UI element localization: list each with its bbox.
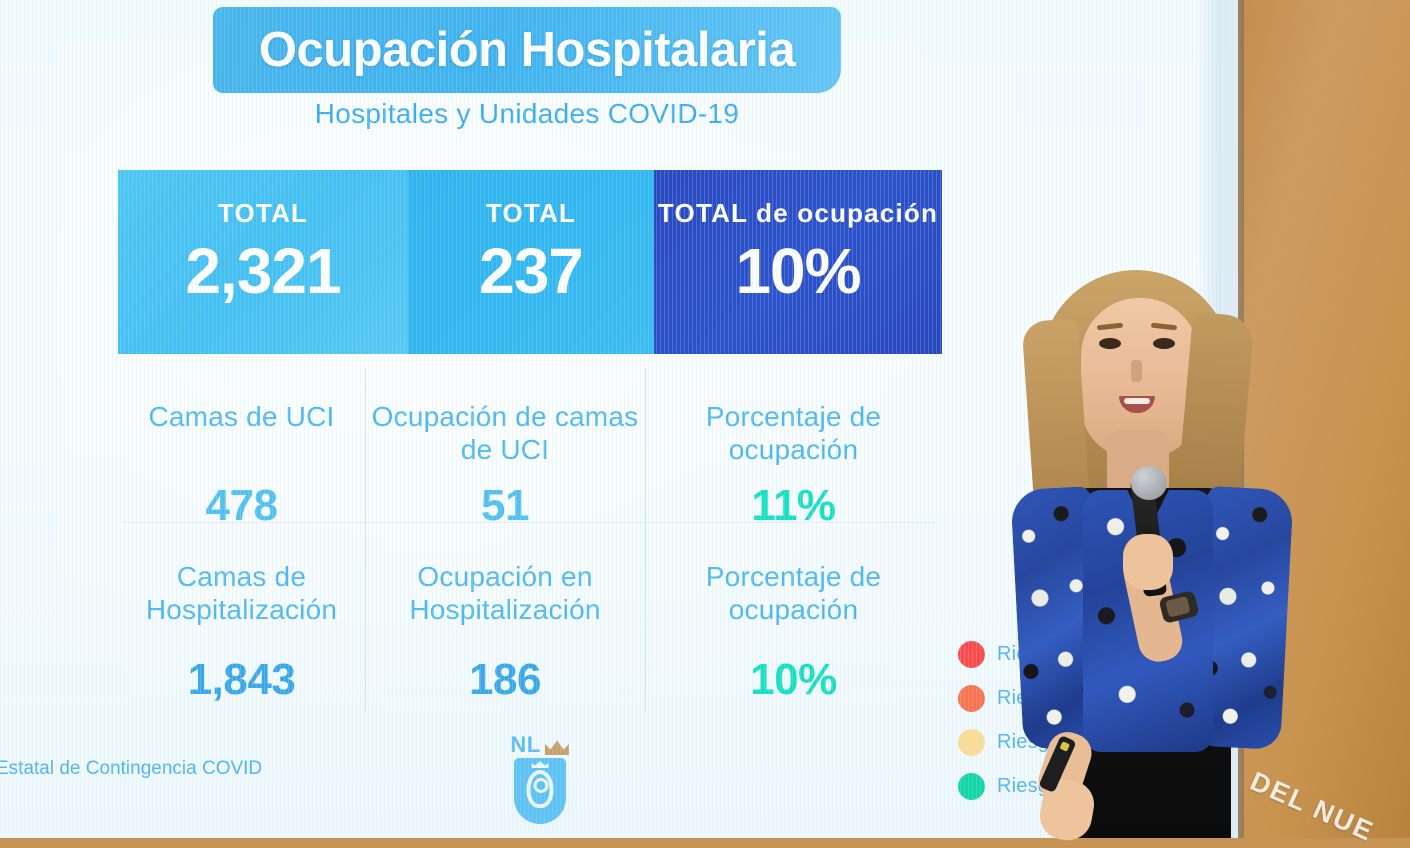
total-card-value: 237 — [479, 239, 583, 303]
metric-cell-ocupacion-uci: Ocupación de camas de UCI 51 — [365, 378, 645, 528]
presenter-person — [955, 262, 1335, 838]
metrics-row-hospitalizacion: Camas de Hospitalización 1,843 Ocupación… — [118, 540, 942, 710]
total-card-porcentaje: TOTAL de ocupación 10% — [654, 170, 942, 354]
metrics-row-uci: Camas de UCI 478 Ocupación de camas de U… — [118, 378, 942, 528]
metric-value: 11% — [751, 484, 835, 528]
total-card-value: 10% — [735, 239, 860, 303]
total-card-value: 2,321 — [185, 239, 340, 303]
total-card-camas: TOTAL 2,321 — [118, 170, 408, 354]
total-card-label: TOTAL de ocupación — [658, 198, 938, 229]
metric-label: Camas de UCI — [148, 400, 334, 433]
presenter-hand-right — [1123, 534, 1173, 590]
metric-value: 1,843 — [188, 658, 296, 702]
page-title: Ocupación Hospitalaria — [259, 22, 795, 78]
logo-wordmark: NL — [500, 730, 580, 756]
metric-cell-ocupacion-hospitalizacion: Ocupación en Hospitalización 186 — [365, 540, 645, 710]
metric-cell-porcentaje-hospitalizacion: Porcentaje de ocupación 10% — [645, 540, 942, 710]
presenter-eye — [1099, 338, 1121, 349]
metric-cell-camas-uci: Camas de UCI 478 — [118, 378, 365, 528]
microphone-icon — [1131, 466, 1167, 500]
slide-subtitle: Hospitales y Unidades COVID-19 — [213, 98, 841, 130]
metric-value: 478 — [206, 484, 278, 528]
metric-value: 186 — [469, 658, 541, 702]
shield-crown-icon — [532, 761, 549, 768]
metric-cell-porcentaje-uci: Porcentaje de ocupación 11% — [645, 378, 942, 528]
shield-emblem-icon — [527, 770, 554, 808]
presenter-nose — [1131, 360, 1142, 382]
nl-shield-icon — [514, 758, 566, 824]
metric-value: 51 — [481, 484, 529, 528]
metric-label: Ocupación en Hospitalización — [365, 560, 645, 626]
total-card-ocupacion: TOTAL 237 — [408, 170, 654, 354]
metric-cell-camas-hospitalizacion: Camas de Hospitalización 1,843 — [118, 540, 365, 710]
totals-row: TOTAL 2,321 TOTAL 237 TOTAL de ocupación… — [118, 170, 942, 354]
crown-icon — [544, 740, 570, 756]
metric-value: 10% — [750, 658, 837, 702]
presenter-eye — [1153, 338, 1175, 349]
slide-title-banner: Ocupación Hospitalaria — [213, 7, 841, 93]
presentation-room-scene: DEL NUE Ocupación Hospitalaria Hospitale… — [0, 0, 1410, 838]
metrics-grid: Camas de UCI 478 Ocupación de camas de U… — [118, 360, 942, 720]
nuevo-leon-logo: NL — [500, 730, 580, 830]
total-card-label: TOTAL — [486, 198, 576, 229]
total-card-label: TOTAL — [218, 198, 308, 229]
metric-label: Porcentaje de ocupación — [645, 400, 942, 466]
metric-label: Porcentaje de ocupación — [645, 560, 942, 626]
footer-text: Estatal de Contingencia COVID — [0, 758, 262, 780]
metric-label: Ocupación de camas de UCI — [365, 400, 645, 466]
metric-label: Camas de Hospitalización — [118, 560, 365, 626]
logo-text: NL — [510, 734, 540, 756]
